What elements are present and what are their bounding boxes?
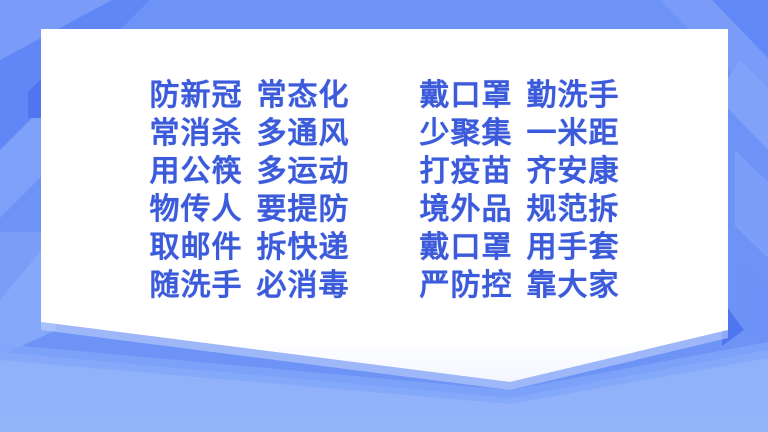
poster-canvas: 防新冠 常态化 常消杀 多通风 用公筷 多运动 物传人 要提防 取邮件 拆快 — [0, 0, 768, 432]
slogan-row: 少聚集 一米距 — [420, 115, 620, 153]
slogan-phrase: 齐安康 — [527, 153, 620, 191]
slogan-row: 防新冠 常态化 — [150, 77, 350, 115]
slogan-phrase: 少聚集 — [420, 115, 513, 153]
slogan-phrase: 靠大家 — [527, 267, 620, 305]
slogan-phrase: 打疫苗 — [420, 153, 513, 191]
slogan-row: 取邮件 拆快递 — [150, 229, 350, 267]
slogan-phrase: 物传人 — [150, 191, 243, 229]
slogan-phrase: 要提防 — [257, 191, 350, 229]
slogan-row: 常消杀 多通风 — [150, 115, 350, 153]
slogan-phrase: 取邮件 — [150, 229, 243, 267]
slogan-text-area: 防新冠 常态化 常消杀 多通风 用公筷 多运动 物传人 要提防 取邮件 拆快 — [41, 29, 728, 322]
slogan-phrase: 必消毒 — [257, 267, 350, 305]
slogan-phrase: 多运动 — [257, 153, 350, 191]
slogan-phrase: 用公筷 — [150, 153, 243, 191]
slogan-phrase: 规范拆 — [527, 191, 620, 229]
slogan-phrase: 常态化 — [257, 77, 350, 115]
slogan-row: 戴口罩 勤洗手 — [420, 77, 620, 115]
slogan-row: 严防控 靠大家 — [420, 267, 620, 305]
slogan-phrase: 勤洗手 — [527, 77, 620, 115]
slogan-row: 打疫苗 齐安康 — [420, 153, 620, 191]
slogan-row: 戴口罩 用手套 — [420, 229, 620, 267]
slogan-row: 境外品 规范拆 — [420, 191, 620, 229]
slogan-columns: 防新冠 常态化 常消杀 多通风 用公筷 多运动 物传人 要提防 取邮件 拆快 — [150, 77, 620, 305]
slogan-phrase: 严防控 — [420, 267, 513, 305]
slogan-phrase: 防新冠 — [150, 77, 243, 115]
slogan-phrase: 多通风 — [257, 115, 350, 153]
slogan-phrase: 拆快递 — [257, 229, 350, 267]
slogan-phrase: 用手套 — [527, 229, 620, 267]
slogan-phrase: 随洗手 — [150, 267, 243, 305]
slogan-phrase: 戴口罩 — [420, 77, 513, 115]
slogan-phrase: 常消杀 — [150, 115, 243, 153]
slogan-row: 物传人 要提防 — [150, 191, 350, 229]
slogan-column-right: 戴口罩 勤洗手 少聚集 一米距 打疫苗 齐安康 境外品 规范拆 戴口罩 用手 — [420, 77, 620, 305]
slogan-row: 用公筷 多运动 — [150, 153, 350, 191]
slogan-row: 随洗手 必消毒 — [150, 267, 350, 305]
slogan-phrase: 戴口罩 — [420, 229, 513, 267]
slogan-phrase: 境外品 — [420, 191, 513, 229]
slogan-phrase: 一米距 — [527, 115, 620, 153]
slogan-column-left: 防新冠 常态化 常消杀 多通风 用公筷 多运动 物传人 要提防 取邮件 拆快 — [150, 77, 350, 305]
